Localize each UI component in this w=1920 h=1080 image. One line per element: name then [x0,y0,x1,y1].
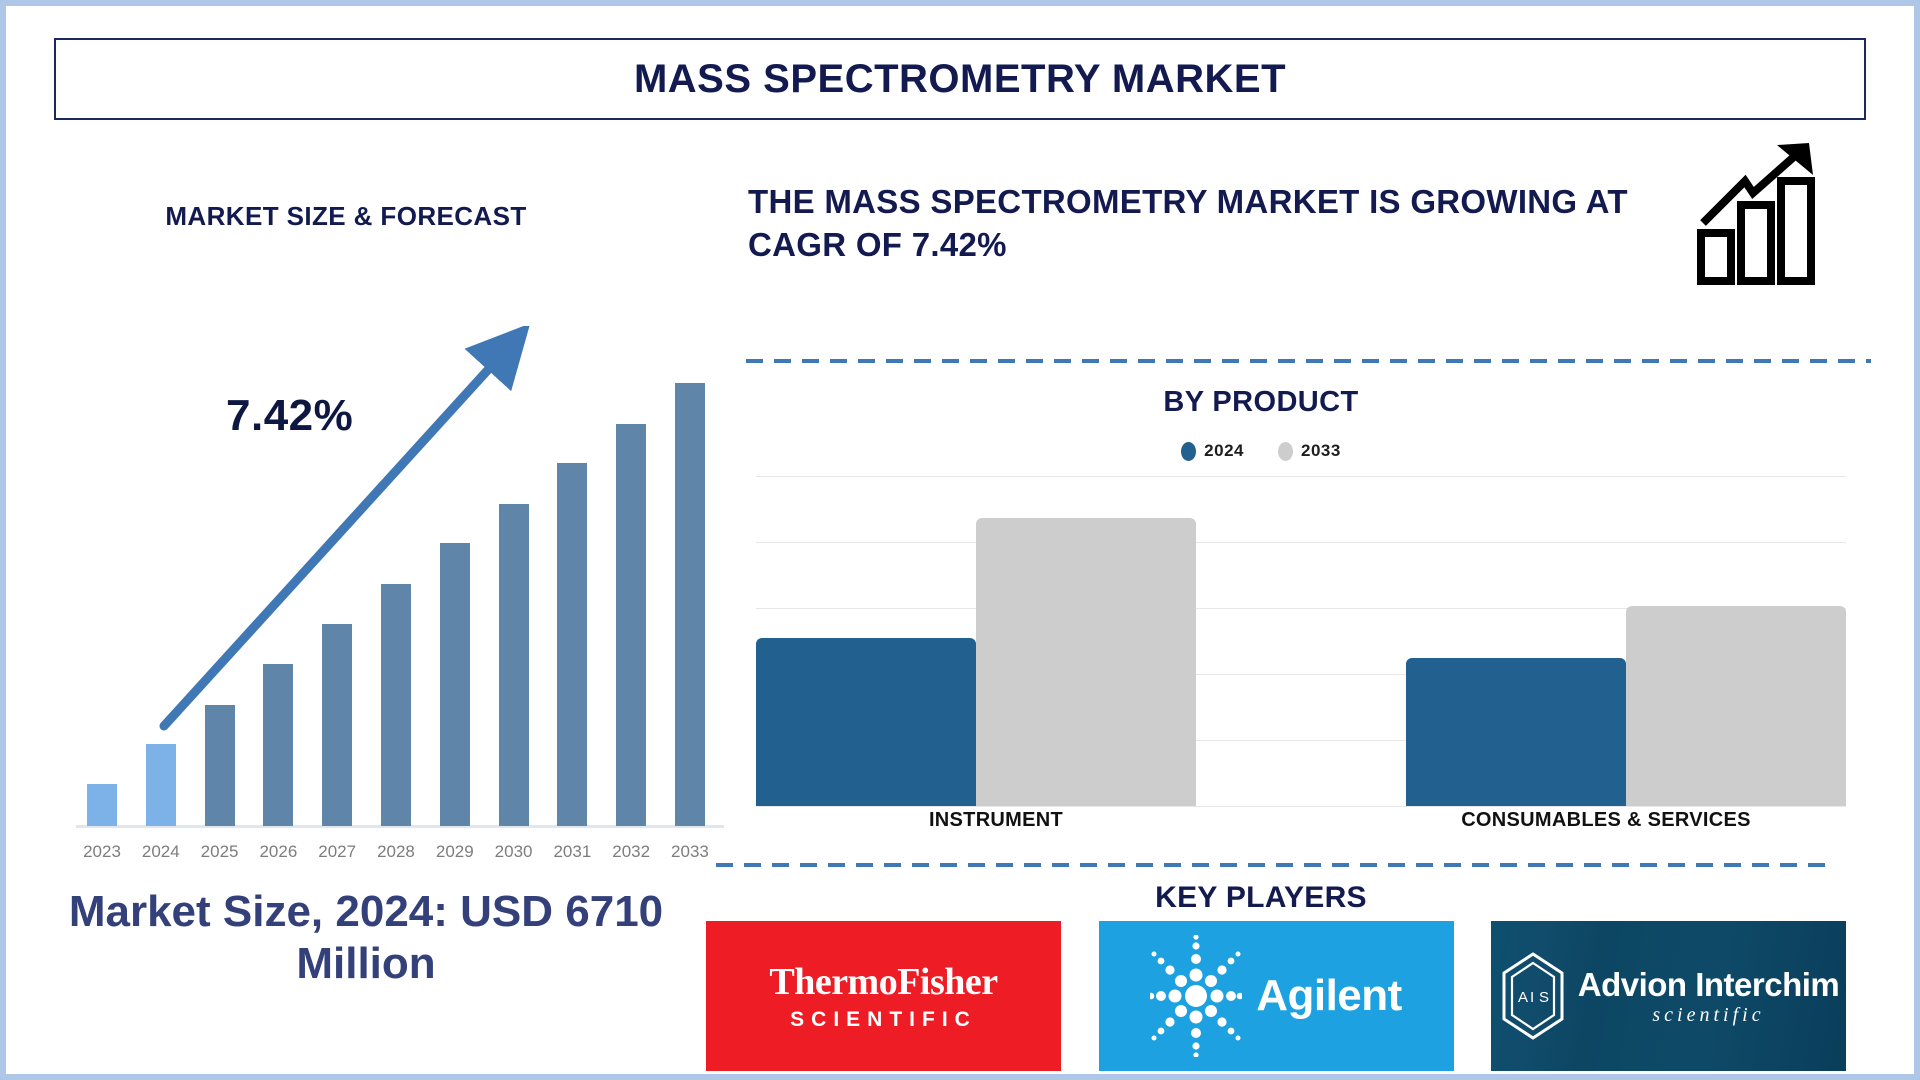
title-box: MASS SPECTROMETRY MARKET [54,38,1866,120]
by-product-legend: 20242033 [726,441,1796,461]
product-bar-2024 [756,638,976,806]
forecast-bar [146,744,176,826]
logo-advion-interchim[interactable]: A I S Advion Interchim scientific [1491,921,1846,1071]
market-size-forecast-heading: MARKET SIZE & FORECAST [36,201,656,232]
logo-advion-tagline: scientific [1652,1004,1764,1027]
forecast-bar-column [664,346,716,826]
forecast-year-label: 2026 [252,842,304,862]
product-category-label: INSTRUMENT [756,809,1236,832]
product-category-label: CONSUMABLES & SERVICES [1366,809,1846,832]
logo-thermofisher-tagline: SCIENTIFIC [790,1008,977,1032]
legend-label: 2033 [1301,441,1341,461]
forecast-year-label: 2033 [664,842,716,862]
forecast-bar-column [546,346,598,826]
right-panel: THE MASS SPECTROMETRY MARKET IS GROWING … [726,156,1886,1056]
advion-hexagon-icon: A I S [1498,950,1568,1042]
forecast-bar [205,705,235,826]
forecast-bars [76,346,716,826]
logo-advion-name: Advion Interchim [1578,966,1840,1004]
key-players-logos: ThermoFisher SCIENTIFIC [706,921,1846,1071]
forecast-bar [263,664,293,826]
infographic-canvas: MASS SPECTROMETRY MARKET MARKET SIZE & F… [0,0,1920,1080]
forecast-year-labels: 2023202420252026202720282029203020312032… [76,842,716,862]
forecast-year-label: 2031 [546,842,598,862]
forecast-bar [440,543,470,826]
forecast-bar-column [429,346,481,826]
product-bar-2024 [1406,658,1626,806]
by-product-bar-groups [756,476,1846,806]
bar-group-1 [1366,476,1846,806]
forecast-bar [675,383,705,826]
forecast-bar-column [605,346,657,826]
forecast-bar [499,504,529,826]
dashed-separator-bottom [716,863,1831,867]
forecast-bar [322,624,352,826]
forecast-year-label: 2027 [311,842,363,862]
forecast-bar [616,424,646,826]
by-product-x-labels: INSTRUMENTCONSUMABLES & SERVICES [756,809,1846,832]
forecast-year-label: 2029 [429,842,481,862]
key-players-title: KEY PLAYERS [726,881,1796,915]
page-title: MASS SPECTROMETRY MARKET [634,57,1286,102]
bar-group-0 [756,476,1236,806]
forecast-bar-column [311,346,363,826]
forecast-bar [87,784,117,826]
by-product-chart: INSTRUMENTCONSUMABLES & SERVICES [756,476,1846,806]
forecast-bar-chart: 2023202420252026202720282029203020312032… [76,326,716,856]
forecast-year-label: 2028 [370,842,422,862]
gridline [756,806,1846,807]
forecast-bar-column [252,346,304,826]
forecast-year-label: 2023 [76,842,128,862]
agilent-starburst-icon [1150,935,1242,1057]
legend-item-2024[interactable]: 2024 [1181,441,1244,461]
growth-statement: THE MASS SPECTROMETRY MARKET IS GROWING … [748,181,1628,267]
forecast-year-label: 2025 [194,842,246,862]
svg-text:S: S [1539,989,1549,1006]
forecast-bar-column [135,346,187,826]
forecast-bar-column [488,346,540,826]
forecast-year-label: 2030 [488,842,540,862]
forecast-bar-column [194,346,246,826]
forecast-bar [557,463,587,826]
logo-thermofisher[interactable]: ThermoFisher SCIENTIFIC [706,921,1061,1071]
by-product-title: BY PRODUCT [726,386,1796,419]
growth-bar-chart-arrow-icon [1693,141,1828,286]
logo-agilent-name: Agilent [1256,971,1402,1021]
forecast-bar-column [76,346,128,826]
forecast-year-label: 2024 [135,842,187,862]
svg-text:I: I [1530,989,1534,1006]
legend-label: 2024 [1204,441,1244,461]
market-size-forecast-panel: MARKET SIZE & FORECAST 7.42% 20232024202… [36,156,708,1056]
forecast-bar-column [370,346,422,826]
market-size-value: Market Size, 2024: USD 6710 Million [36,886,696,990]
legend-item-2033[interactable]: 2033 [1278,441,1341,461]
product-bar-2033 [976,518,1196,806]
svg-text:A: A [1518,989,1528,1006]
dashed-separator-top [746,359,1871,363]
forecast-bar [381,584,411,826]
logo-thermofisher-name: ThermoFisher [769,960,997,1004]
legend-dot-icon [1278,442,1293,461]
forecast-year-label: 2032 [605,842,657,862]
legend-dot-icon [1181,442,1196,461]
product-bar-2033 [1626,606,1846,806]
logo-agilent[interactable]: Agilent [1099,921,1454,1071]
